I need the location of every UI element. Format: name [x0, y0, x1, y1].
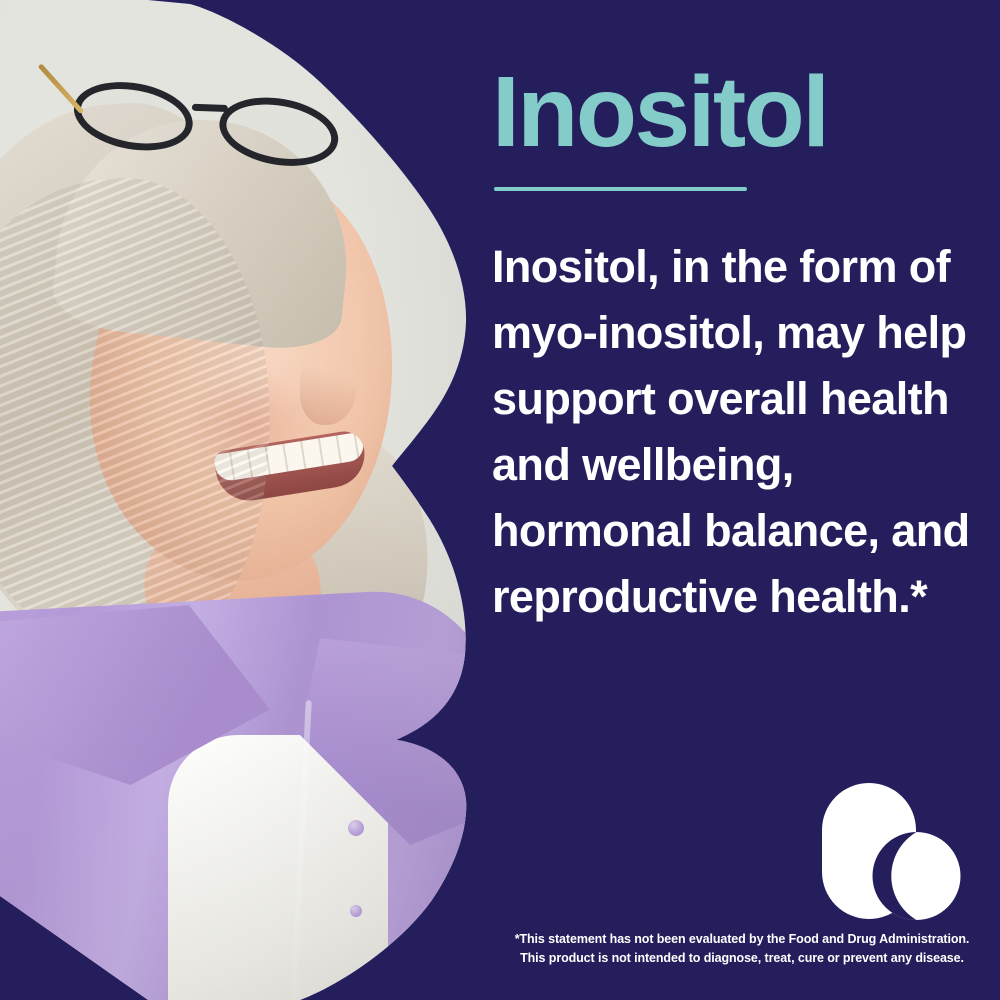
page-title: Inositol: [492, 62, 828, 162]
product-benefit-card: Inositol Inositol, in the form of myo-in…: [0, 0, 1000, 1000]
disclaimer-line-2: This product is not intended to diagnose…: [492, 949, 992, 968]
content-column: Inositol Inositol, in the form of myo-in…: [492, 0, 1000, 1000]
benefit-description: Inositol, in the form of myo-inositol, m…: [492, 234, 972, 630]
brand-logo: [822, 783, 962, 923]
photo-panel: [0, 0, 480, 1000]
disclaimer-line-1: *This statement has not been evaluated b…: [492, 930, 992, 949]
title-underline-rule: [494, 187, 747, 191]
fda-disclaimer: *This statement has not been evaluated b…: [492, 930, 992, 968]
photo-vignette: [0, 0, 480, 1000]
photo-wave-mask: [0, 0, 480, 1000]
